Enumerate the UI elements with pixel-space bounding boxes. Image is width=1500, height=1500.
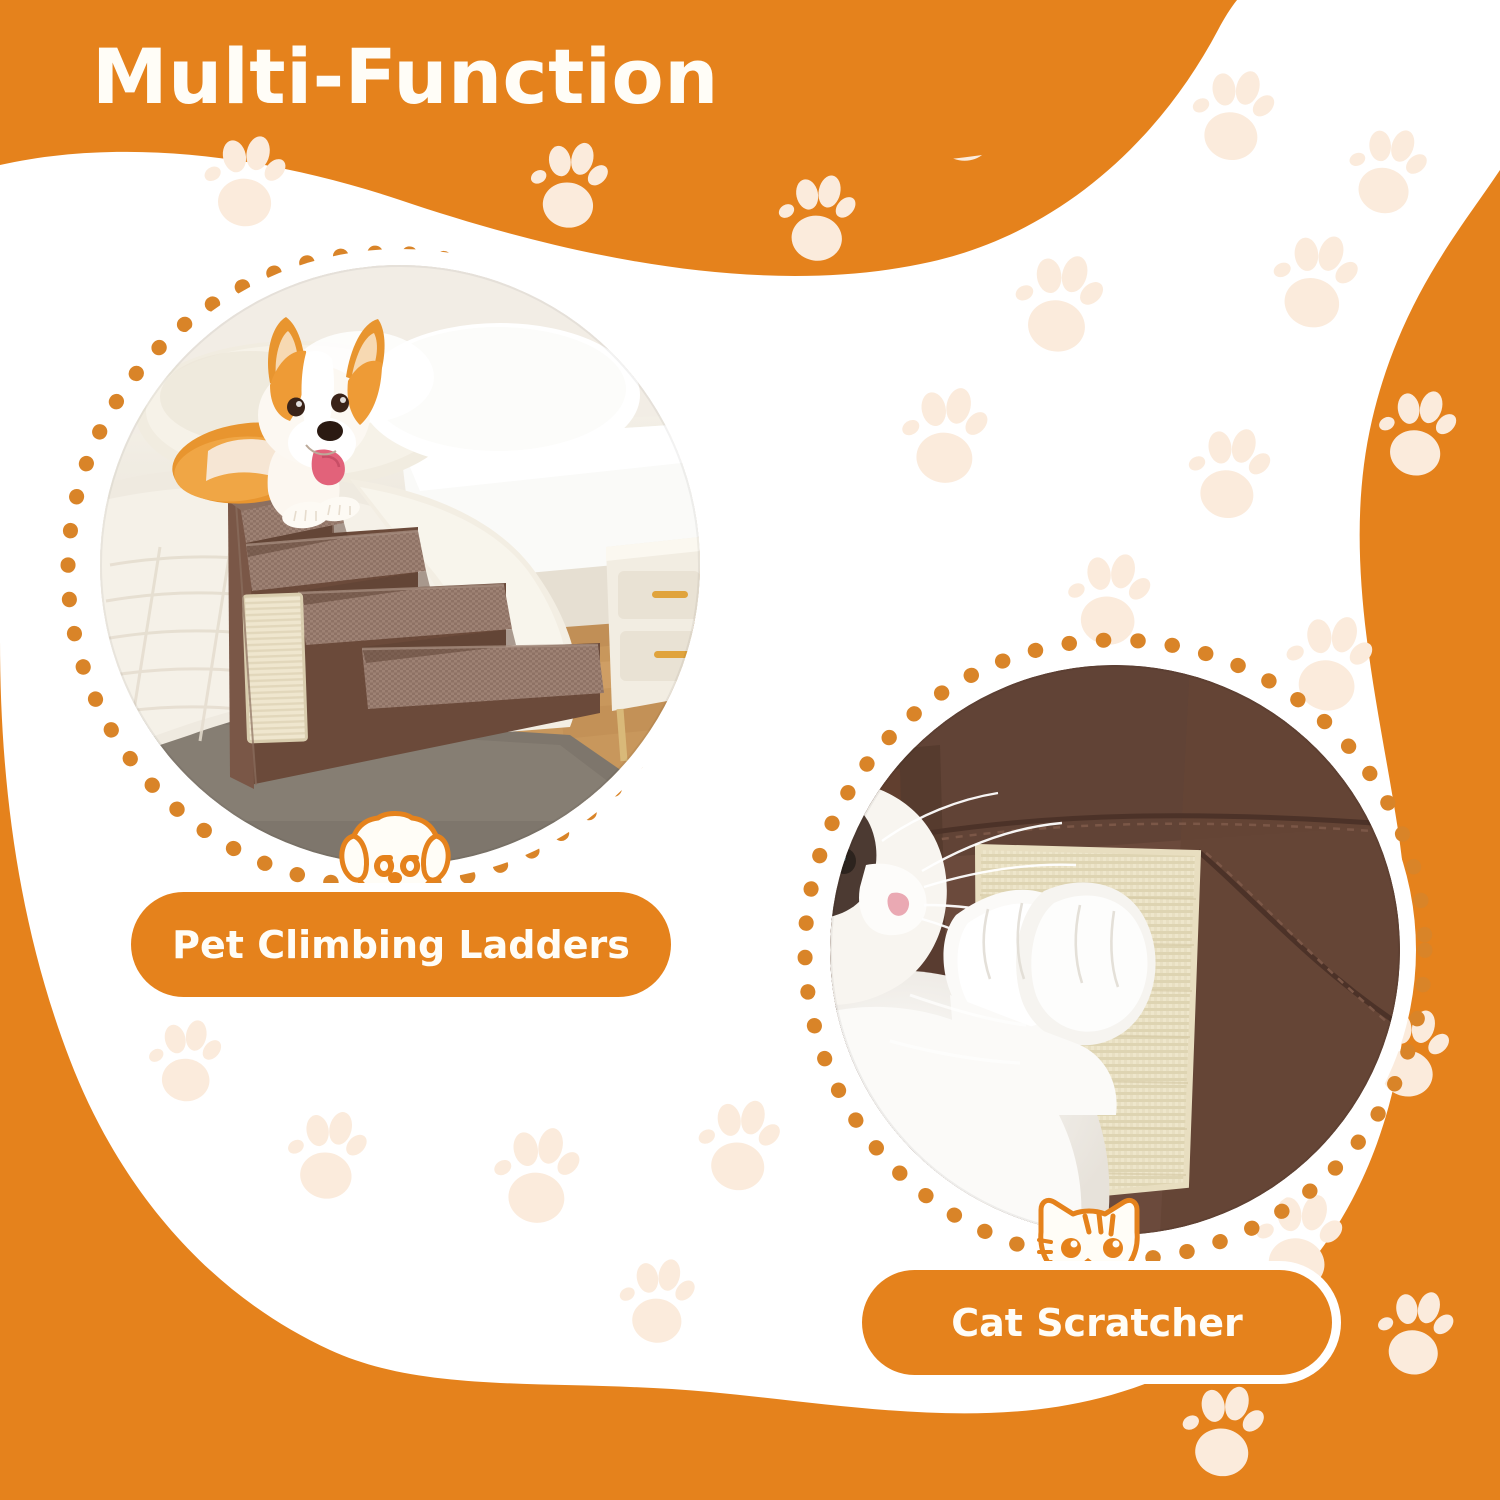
photo-cat-scratcher bbox=[830, 665, 1400, 1235]
page-title: Multi-Function bbox=[92, 32, 719, 121]
sisal-scratch-panel bbox=[243, 594, 306, 742]
badge-label-pet-climbing-ladders: Pet Climbing Ladders bbox=[172, 923, 630, 967]
badge-pet-climbing-ladders[interactable]: Pet Climbing Ladders bbox=[131, 892, 671, 997]
feature-card-cat-scratcher: Cat Scratcher bbox=[790, 620, 1440, 1310]
badge-cat-scratcher[interactable]: Cat Scratcher bbox=[862, 1270, 1332, 1375]
photo-pet-climbing-ladders bbox=[100, 265, 700, 865]
marketing-infographic: Multi-Function bbox=[0, 0, 1500, 1500]
badge-label-cat-scratcher: Cat Scratcher bbox=[951, 1301, 1242, 1345]
feature-card-pet-climbing-ladders: Pet Climbing Ladders bbox=[55, 230, 715, 910]
